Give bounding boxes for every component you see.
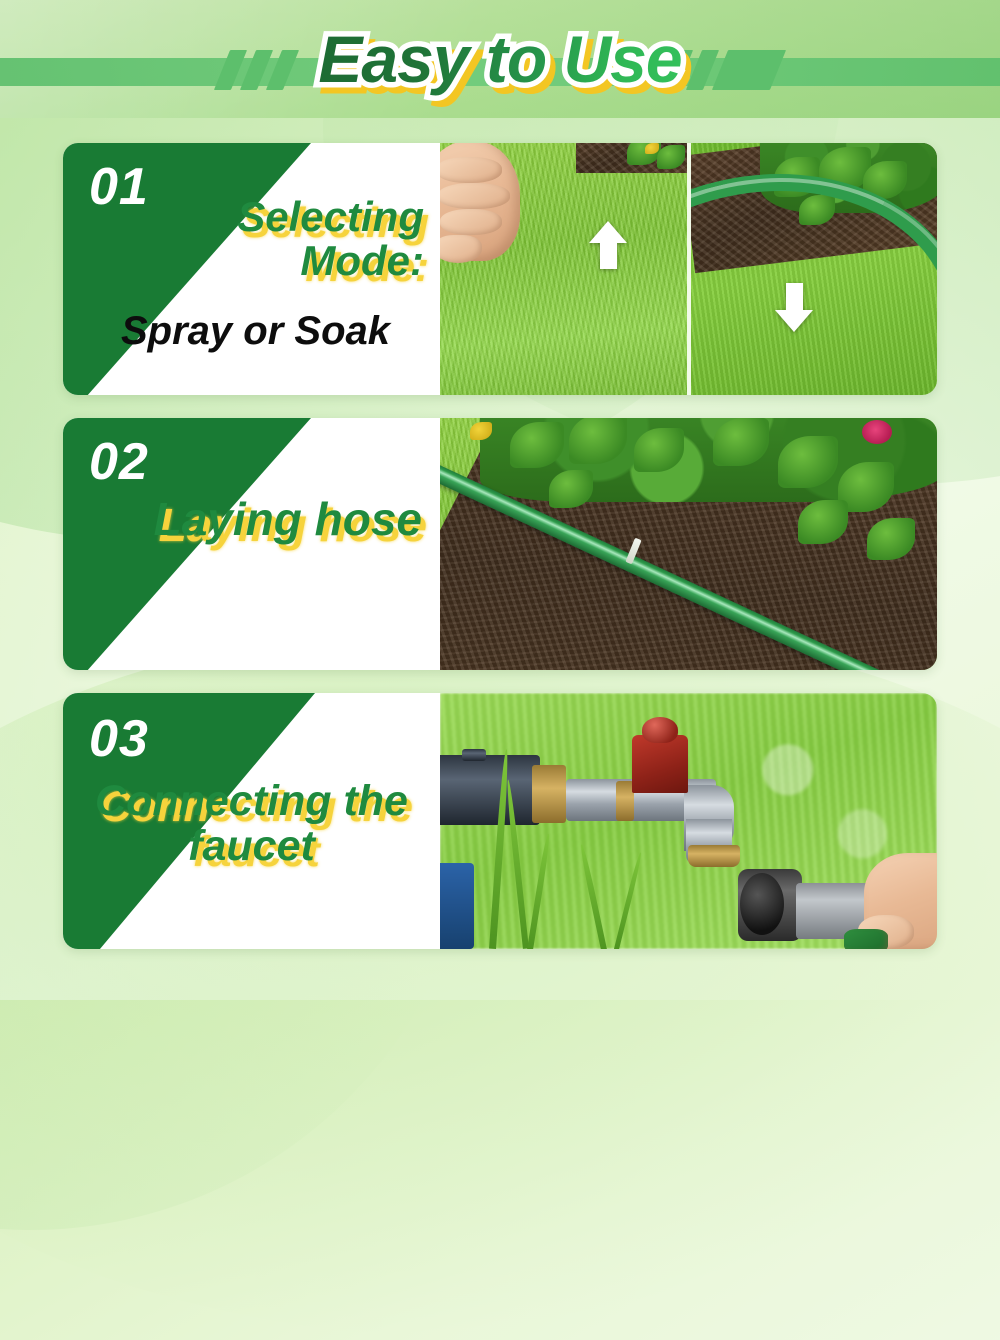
page-title-wrapper: Easy to Use Easy to Use Easy to Use (0, 0, 1000, 118)
step-card-02-photos (440, 418, 937, 670)
step-card-02: 02 Laying hose (63, 418, 937, 670)
step-card-01: 01 Selecting Mode: Spray or Soak (63, 143, 937, 395)
arrow-head (589, 221, 627, 243)
finger (440, 209, 502, 235)
connector-opening (740, 873, 784, 935)
step-card-01-text: 01 Selecting Mode: Spray or Soak (63, 143, 440, 395)
photo-hand-holding-hose (440, 143, 687, 395)
step-card-03: 03 Connecting the faucet (63, 693, 937, 949)
black-pipe (440, 755, 540, 825)
step-headline-01: Selecting Mode: (154, 195, 424, 282)
photo-hose-laid-along-bed (440, 418, 937, 670)
hose-end (844, 929, 888, 949)
pipe-cap (462, 749, 486, 761)
finger (440, 157, 502, 183)
photo-connecting-faucet (440, 693, 937, 949)
step-subline-01: Spray or Soak (81, 309, 430, 354)
step-number-02: 02 (89, 436, 149, 488)
step-number-01: 01 (89, 161, 149, 213)
step-number-03: 03 (89, 713, 149, 765)
step-headline-02: Laying hose (132, 496, 422, 544)
arrow-stem (600, 242, 617, 269)
faucet-threads (688, 845, 740, 867)
yellow-leaf (645, 143, 659, 154)
brass-fitting (532, 765, 566, 823)
finger (440, 183, 510, 209)
step-card-02-text: 02 Laying hose (63, 418, 440, 670)
step-card-03-text: 03 Connecting the faucet (63, 693, 440, 949)
step-card-01-photos (440, 143, 937, 395)
faucet-handle (632, 735, 688, 793)
photo-hose-on-bed (687, 143, 938, 395)
step-headline-03: Connecting the faucet (73, 779, 430, 868)
arrow-stem (786, 283, 803, 311)
faucet-handle-knob (642, 717, 678, 743)
blue-base (440, 863, 474, 949)
step-card-03-photos (440, 693, 937, 949)
arrow-head (775, 310, 813, 332)
page-title: Easy to Use Easy to Use Easy to Use (318, 26, 681, 92)
page-title-text: Easy to Use (318, 22, 681, 96)
